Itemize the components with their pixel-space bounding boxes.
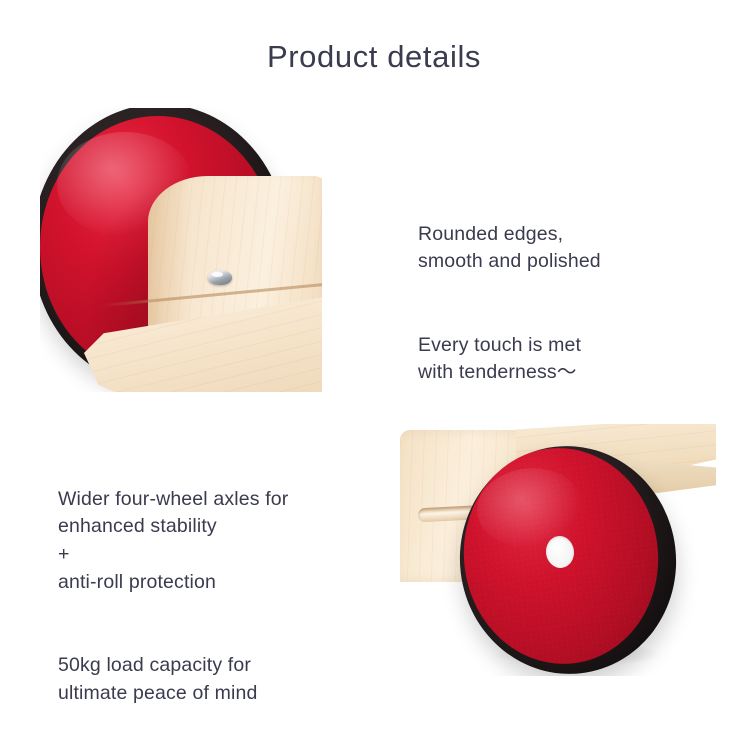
feature-text-stability-capacity: Wider four-wheel axles for enhanced stab… [58, 458, 378, 735]
metal-rivet [208, 270, 232, 285]
product-photo-wheel-axle [398, 424, 716, 676]
feature-paragraph-rounded-edges: Rounded edges, smooth and polished [418, 221, 708, 276]
product-details-page: Product details Rounded edges, smooth an… [0, 0, 748, 748]
feature-text-rounded-edges: Rounded edges, smooth and polished Every… [418, 193, 708, 415]
feature-paragraph-tenderness: Every touch is met with tenderness〜 [418, 332, 708, 387]
photo-right-crop-mask [322, 108, 324, 392]
photo-stage-wheel-seat [40, 108, 324, 392]
feature-paragraph-four-wheel-axles: Wider four-wheel axles for enhanced stab… [58, 486, 378, 597]
product-photo-wheel-seat [40, 108, 324, 392]
page-title: Product details [0, 38, 748, 75]
photo-stage-wheel-axle [398, 424, 716, 676]
feature-paragraph-load-capacity: 50kg load capacity for ultimate peace of… [58, 652, 378, 707]
